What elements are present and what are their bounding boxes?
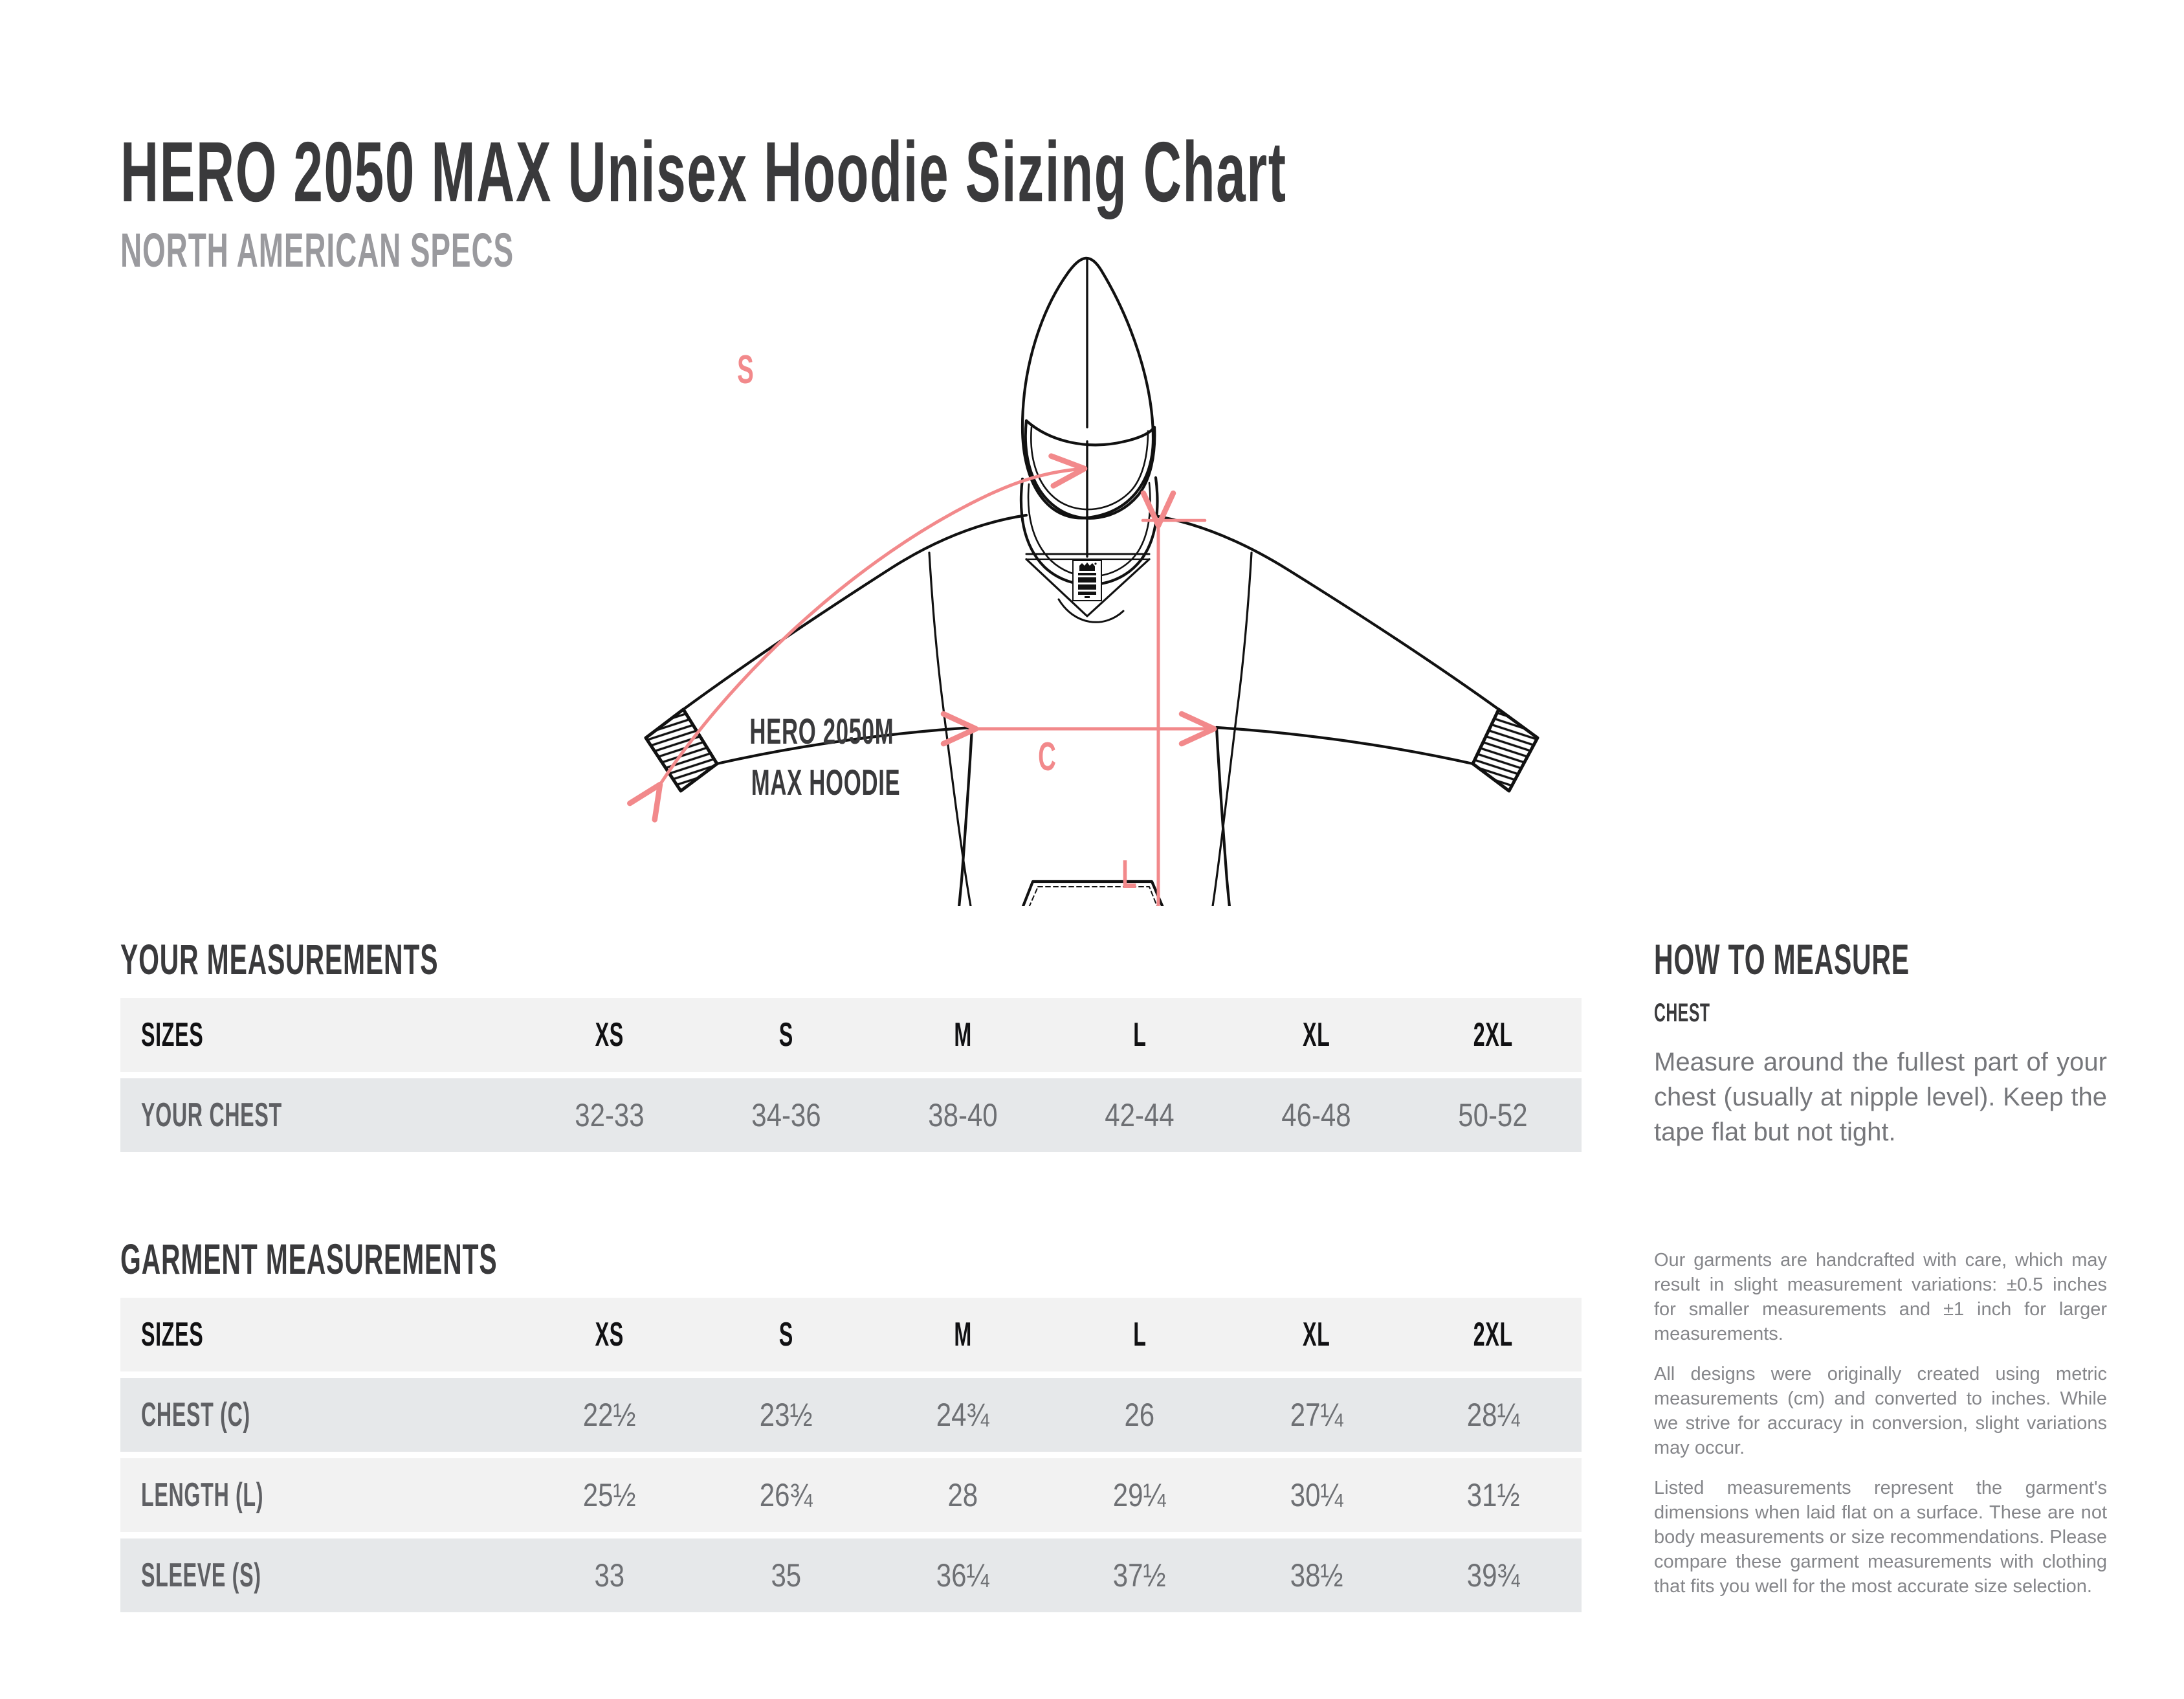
header-cell-xs: XS — [521, 1298, 698, 1371]
cell-sleeve-s: 35 — [698, 1538, 874, 1612]
left-sleeve-top — [683, 515, 1026, 709]
table-row: CHEST (C) 22½ 23½ 24¾ 26 27¼ 28¼ — [120, 1378, 1582, 1452]
how-to-measure-subheading: CHEST — [1654, 1001, 1745, 1025]
right-cuff — [1473, 709, 1538, 791]
measurement-letter-labels: S C L — [737, 347, 1136, 897]
table-header-row: SIZES XS S M L XL 2XL — [120, 998, 1582, 1072]
garment-caption-line1: HERO 2050M — [749, 711, 894, 752]
garment-measurements-heading: GARMENT MEASUREMENTS — [120, 1239, 728, 1278]
header-cell-sizes: SIZES — [120, 998, 521, 1072]
row-label-chest: CHEST (C) — [120, 1378, 521, 1452]
fineprint-paragraph-1: Our garments are handcrafted with care, … — [1654, 1248, 2107, 1346]
cell-chest-l: 26 — [1052, 1378, 1228, 1452]
cell-sleeve-m: 36¼ — [874, 1538, 1051, 1612]
brand-neck-tag — [1073, 561, 1101, 601]
cell-your-chest-xs: 32-33 — [521, 1078, 698, 1152]
hood-face-opening-top — [1026, 421, 1154, 445]
how-to-measure-heading: HOW TO MEASURE — [1654, 940, 2066, 979]
pocket-topstitch-r — [1038, 887, 1162, 906]
chest-label: C — [1038, 734, 1056, 779]
header-cell-l: L — [1052, 998, 1228, 1072]
your-measurements-table: SIZES XS S M L XL 2XL YOUR CHEST 32-33 3… — [120, 998, 1582, 1152]
header-cell-l: L — [1052, 1298, 1228, 1371]
cell-chest-m: 24¾ — [874, 1378, 1051, 1452]
your-measurements-heading: YOUR MEASUREMENTS — [120, 940, 634, 979]
cell-sleeve-l: 37½ — [1052, 1538, 1228, 1612]
kangaroo-pocket — [1019, 882, 1167, 906]
row-gap — [120, 1072, 1582, 1078]
row-gap — [120, 1532, 1582, 1538]
page-subtitle: NORTH AMERICAN SPECS — [120, 232, 514, 269]
row-label-sleeve: SLEEVE (S) — [120, 1538, 521, 1612]
title-row: HERO 2050 MAX Unisex Hoodie Sizing Chart — [120, 141, 2002, 203]
how-to-measure-body: Measure around the fullest part of your … — [1654, 1045, 2107, 1149]
right-sleeve-top — [1151, 515, 1499, 709]
cell-length-2xl: 31½ — [1405, 1458, 1582, 1532]
header-cell-xl: XL — [1228, 998, 1405, 1072]
sleeve-label: S — [737, 347, 754, 392]
cell-length-xs: 25½ — [521, 1458, 698, 1532]
cell-your-chest-l: 42-44 — [1052, 1078, 1228, 1152]
header-cell-s: S — [698, 1298, 874, 1371]
row-label-your-chest: YOUR CHEST — [120, 1078, 521, 1152]
table-header-row: SIZES XS S M L XL 2XL — [120, 1298, 1582, 1371]
cell-your-chest-xl: 46-48 — [1228, 1078, 1405, 1152]
header-cell-xs: XS — [521, 998, 698, 1072]
row-gap — [120, 1452, 1582, 1458]
row-gap — [120, 1371, 1582, 1378]
page-title: HERO 2050 MAX Unisex Hoodie Sizing Chart — [120, 141, 1287, 203]
neck-fold-curve — [1059, 599, 1123, 622]
cell-length-l: 29¼ — [1052, 1458, 1228, 1532]
table-row: LENGTH (L) 25½ 26¾ 28 29¼ 30¼ 31½ — [120, 1458, 1582, 1532]
cell-length-s: 26¾ — [698, 1458, 874, 1532]
cell-length-xl: 30¼ — [1228, 1458, 1405, 1532]
table-row: SLEEVE (S) 33 35 36¼ 37½ 38½ 39¾ — [120, 1538, 1582, 1612]
header-cell-sizes: SIZES — [120, 1298, 521, 1371]
left-body-side — [958, 727, 972, 906]
cell-sleeve-2xl: 39¾ — [1405, 1538, 1582, 1612]
header-cell-xl: XL — [1228, 1298, 1405, 1371]
fineprint-paragraph-3: Listed measurements represent the garmen… — [1654, 1476, 2107, 1599]
right-sleeve-under — [1217, 727, 1473, 764]
cell-your-chest-2xl: 50-52 — [1405, 1078, 1582, 1152]
garment-caption-line2: MAX HOODIE — [751, 762, 901, 803]
header-cell-m: M — [874, 998, 1051, 1072]
cell-chest-xl: 27¼ — [1228, 1378, 1405, 1452]
length-label: L — [1121, 852, 1136, 897]
fineprint-paragraph-2: All designs were originally created usin… — [1654, 1362, 2107, 1460]
cell-your-chest-m: 38-40 — [874, 1078, 1051, 1152]
header-cell-s: S — [698, 998, 874, 1072]
cell-sleeve-xl: 38½ — [1228, 1538, 1405, 1612]
header-cell-2xl: 2XL — [1405, 1298, 1582, 1371]
row-label-length: LENGTH (L) — [120, 1458, 521, 1532]
header-cell-2xl: 2XL — [1405, 998, 1582, 1072]
cell-sleeve-xs: 33 — [521, 1538, 698, 1612]
cell-chest-s: 23½ — [698, 1378, 874, 1452]
garment-measurements-table: SIZES XS S M L XL 2XL CHEST (C) 22½ 23½ … — [120, 1298, 1582, 1612]
cell-your-chest-s: 34-36 — [698, 1078, 874, 1152]
cell-chest-xs: 22½ — [521, 1378, 698, 1452]
table-row: YOUR CHEST 32-33 34-36 38-40 42-44 46-48… — [120, 1078, 1582, 1152]
cell-length-m: 28 — [874, 1458, 1051, 1532]
cell-chest-2xl: 28¼ — [1405, 1378, 1582, 1452]
garment-caption: HERO 2050M MAX HOODIE — [705, 711, 919, 813]
header-cell-m: M — [874, 1298, 1051, 1371]
hood-face-opening-bottom — [1026, 421, 1155, 518]
